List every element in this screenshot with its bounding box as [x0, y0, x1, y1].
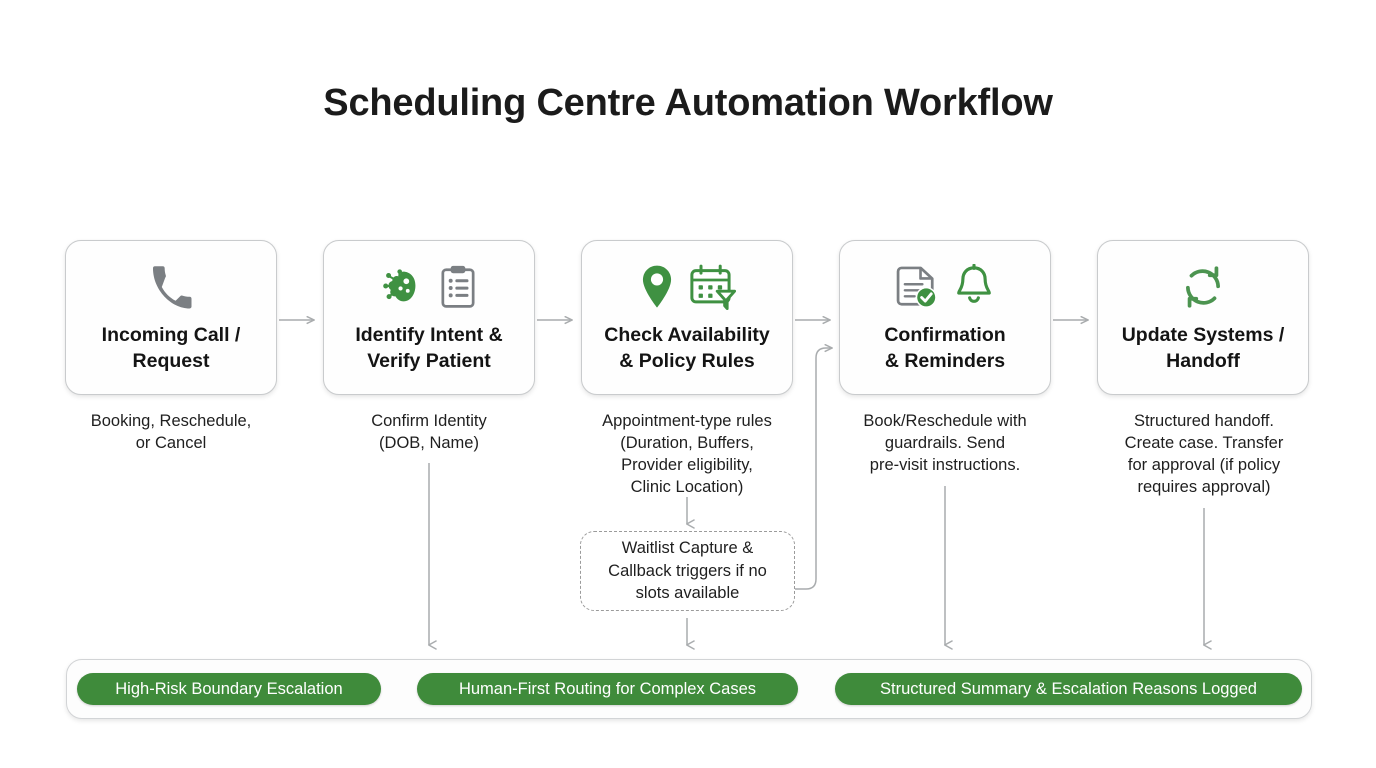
sync-refresh-icon	[1179, 263, 1227, 311]
step-card-confirmation-reminders[interactable]: Confirmation& Reminders	[839, 240, 1051, 395]
guardrail-pill-human-first-routing[interactable]: Human-First Routing for Complex Cases	[417, 673, 798, 705]
step-icon-group	[379, 262, 479, 312]
step-icon-group	[1179, 262, 1227, 312]
step-title: Identify Intent &Verify Patient	[329, 322, 529, 374]
step-caption-incoming-call: Booking, Reschedule,or Cancel	[53, 410, 289, 454]
step-caption-check-availability: Appointment-type rules(Duration, Buffers…	[569, 410, 805, 498]
step-caption-update-systems: Structured handoff.Create case. Transfer…	[1086, 410, 1322, 498]
step-title: Check Availability& Policy Rules	[587, 322, 787, 374]
step-caption-identify-intent: Confirm Identity(DOB, Name)	[311, 410, 547, 454]
waitlist-capture-label: Waitlist Capture &Callback triggers if n…	[608, 537, 767, 605]
step-icon-group	[148, 262, 194, 312]
step-card-identify-intent[interactable]: Identify Intent &Verify Patient	[323, 240, 535, 395]
step-title: Incoming Call /Request	[71, 322, 271, 374]
step-card-check-availability[interactable]: Check Availability& Policy Rules	[581, 240, 793, 395]
step-title: Update Systems /Handoff	[1103, 322, 1303, 374]
calendar-filter-icon	[689, 264, 737, 310]
clipboard-icon	[437, 264, 479, 310]
step-card-update-systems[interactable]: Update Systems /Handoff	[1097, 240, 1309, 395]
step-card-incoming-call[interactable]: Incoming Call /Request	[65, 240, 277, 395]
guardrail-pill-high-risk-boundary-escalation[interactable]: High-Risk Boundary Escalation	[77, 673, 381, 705]
ai-brain-icon	[379, 264, 425, 310]
workflow-diagram: Scheduling Centre Automation Workflow	[0, 0, 1376, 768]
step-icon-group	[895, 262, 995, 312]
bell-icon	[953, 264, 995, 310]
guardrail-pill-structured-summary-logging[interactable]: Structured Summary & Escalation Reasons …	[835, 673, 1302, 705]
step-icon-group	[637, 262, 737, 312]
page-title: Scheduling Centre Automation Workflow	[0, 82, 1376, 125]
waitlist-capture-node[interactable]: Waitlist Capture &Callback triggers if n…	[580, 531, 795, 611]
document-check-icon	[895, 264, 941, 310]
step-title: Confirmation& Reminders	[845, 322, 1045, 374]
phone-icon	[148, 264, 194, 310]
step-caption-confirmation-reminders: Book/Reschedule withguardrails. Sendpre-…	[827, 410, 1063, 476]
map-pin-icon	[637, 264, 677, 310]
